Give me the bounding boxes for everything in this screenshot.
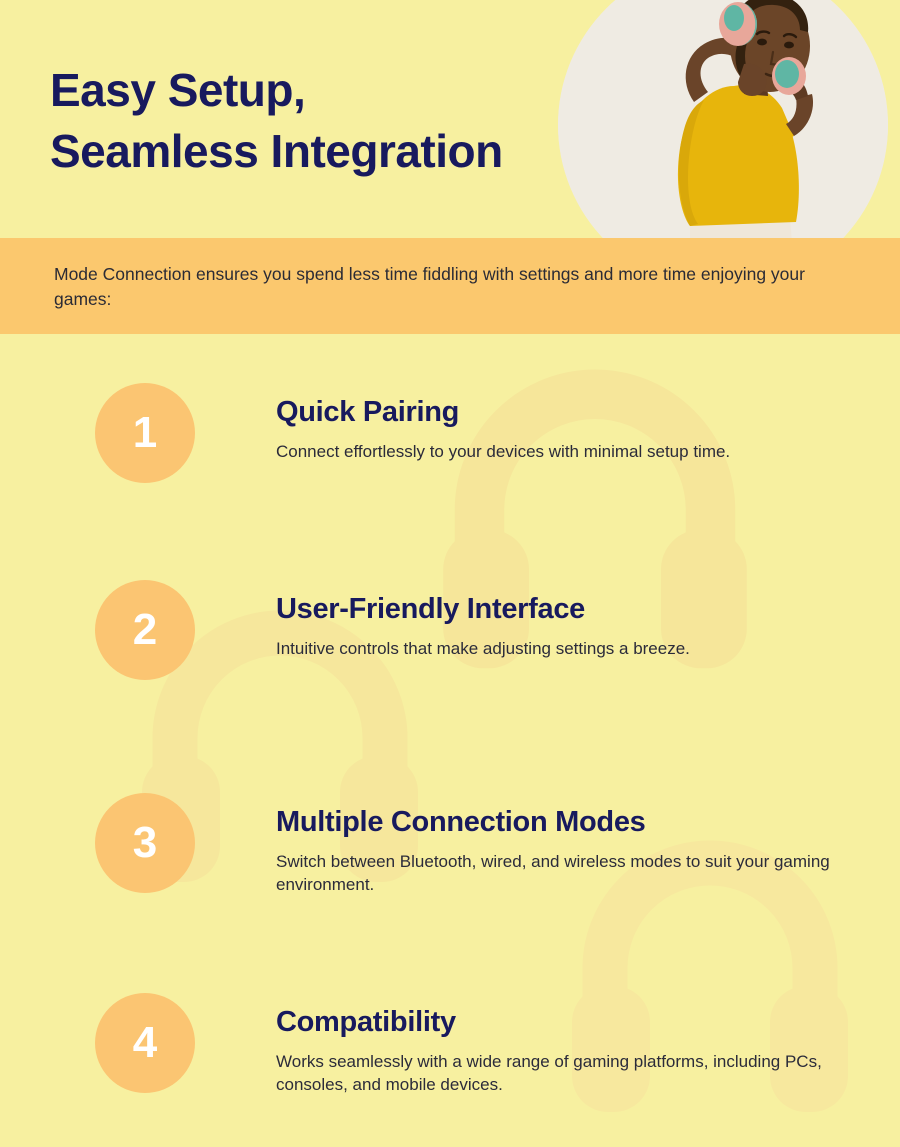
hero-section: Easy Setup, Seamless Integration [0,0,900,238]
list-item-title: Quick Pairing [276,395,876,430]
list-item-description: Works seamlessly with a wide range of ga… [276,1050,876,1097]
poster-root: Easy Setup, Seamless Integration [0,0,900,1147]
list-item-title: Multiple Connection Modes [276,805,876,840]
list-item-description: Switch between Bluetooth, wired, and wir… [276,850,876,897]
list-item-description: Intuitive controls that make adjusting s… [276,637,876,660]
page-title: Easy Setup, Seamless Integration [50,60,610,181]
step-number-badge: 3 [95,793,195,893]
intro-banner-text: Mode Connection ensures you spend less t… [54,262,854,312]
list-item-title: Compatibility [276,1005,876,1040]
step-number-badge: 4 [95,993,195,1093]
step-number-badge: 2 [95,580,195,680]
list-item-description: Connect effortlessly to your devices wit… [276,440,876,463]
intro-banner: Mode Connection ensures you spend less t… [0,238,900,334]
step-number-badge: 1 [95,383,195,483]
list-item-title: User-Friendly Interface [276,592,876,627]
